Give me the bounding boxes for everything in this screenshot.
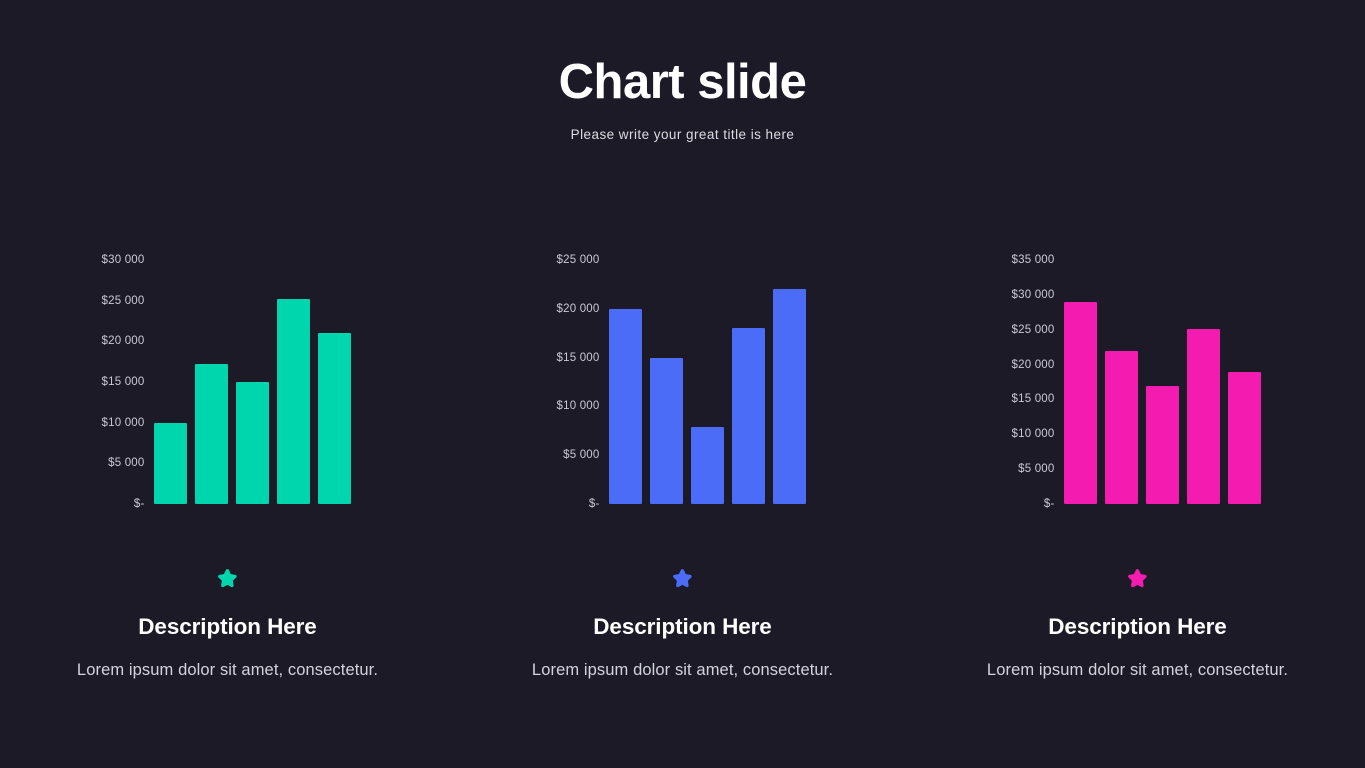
bar[interactable]: [1064, 302, 1097, 504]
page-subtitle: Please write your great title is here: [0, 127, 1365, 142]
description-block-3: Description Here Lorem ipsum dolor sit a…: [973, 614, 1303, 684]
plot-area-1: [154, 248, 351, 504]
bar[interactable]: [609, 309, 642, 504]
y-axis-tick-label: $15 000: [1012, 393, 1055, 405]
bar[interactable]: [1105, 351, 1138, 504]
star-icon-glyph: [671, 568, 694, 590]
bar[interactable]: [650, 358, 683, 504]
y-axis-tick-label: $20 000: [1012, 359, 1055, 371]
y-axis-tick-label: $10 000: [102, 417, 145, 429]
star-icon: [671, 566, 694, 592]
y-axis-tick-label: $5 000: [1018, 463, 1054, 475]
description-title: Description Here: [973, 614, 1303, 640]
bar[interactable]: [1187, 329, 1220, 504]
bar[interactable]: [195, 364, 228, 504]
y-axis-tick-label: $-: [589, 498, 600, 510]
bar-chart-3[interactable]: $-$5 000$10 000$15 000$20 000$25 000$30 …: [993, 248, 1283, 520]
chart-slide: Chart slide Please write your great titl…: [0, 0, 1365, 768]
y-axis-tick-label: $25 000: [557, 254, 600, 266]
bar[interactable]: [1228, 372, 1261, 504]
bar[interactable]: [154, 423, 187, 504]
y-axis-tick-label: $20 000: [557, 303, 600, 315]
description-title: Description Here: [63, 614, 393, 640]
star-icon: [216, 566, 239, 592]
y-axis-tick-label: $25 000: [102, 295, 145, 307]
chart-column-3: $-$5 000$10 000$15 000$20 000$25 000$30 …: [910, 248, 1365, 684]
y-axis-tick-label: $30 000: [102, 254, 145, 266]
bar[interactable]: [691, 427, 724, 504]
y-axis-tick-label: $10 000: [1012, 428, 1055, 440]
y-axis-tick-label: $15 000: [557, 352, 600, 364]
description-block-2: Description Here Lorem ipsum dolor sit a…: [518, 614, 848, 684]
y-axis-tick-label: $15 000: [102, 376, 145, 388]
slide-header: Chart slide Please write your great titl…: [0, 58, 1365, 142]
star-icon: [1126, 566, 1149, 592]
description-title: Description Here: [518, 614, 848, 640]
bar-chart-1[interactable]: $-$5 000$10 000$15 000$20 000$25 000$30 …: [83, 248, 373, 520]
page-title: Chart slide: [0, 58, 1365, 107]
y-axis-tick-label: $-: [1044, 498, 1055, 510]
star-icon-glyph: [216, 568, 239, 590]
y-axis-3: $-$5 000$10 000$15 000$20 000$25 000$30 …: [993, 248, 1055, 520]
bar[interactable]: [318, 333, 351, 504]
description-body: Lorem ipsum dolor sit amet, consectetur.: [973, 656, 1303, 684]
y-axis-1: $-$5 000$10 000$15 000$20 000$25 000$30 …: [83, 248, 145, 520]
chart-column-2: $-$5 000$10 000$15 000$20 000$25 000 Des…: [455, 248, 910, 684]
y-axis-tick-label: $25 000: [1012, 324, 1055, 336]
bar[interactable]: [236, 382, 269, 504]
bar[interactable]: [773, 289, 806, 504]
y-axis-tick-label: $30 000: [1012, 289, 1055, 301]
y-axis-tick-label: $5 000: [563, 449, 599, 461]
bar-chart-2[interactable]: $-$5 000$10 000$15 000$20 000$25 000: [538, 248, 828, 520]
description-block-1: Description Here Lorem ipsum dolor sit a…: [63, 614, 393, 684]
description-body: Lorem ipsum dolor sit amet, consectetur.: [63, 656, 393, 684]
chart-column-1: $-$5 000$10 000$15 000$20 000$25 000$30 …: [0, 248, 455, 684]
y-axis-tick-label: $35 000: [1012, 254, 1055, 266]
y-axis-2: $-$5 000$10 000$15 000$20 000$25 000: [538, 248, 600, 520]
bar[interactable]: [732, 328, 765, 504]
y-axis-tick-label: $10 000: [557, 400, 600, 412]
plot-area-2: [609, 248, 806, 504]
description-body: Lorem ipsum dolor sit amet, consectetur.: [518, 656, 848, 684]
star-icon-glyph: [1126, 568, 1149, 590]
y-axis-tick-label: $5 000: [108, 457, 144, 469]
y-axis-tick-label: $-: [134, 498, 145, 510]
chart-columns: $-$5 000$10 000$15 000$20 000$25 000$30 …: [0, 248, 1365, 684]
y-axis-tick-label: $20 000: [102, 335, 145, 347]
plot-area-3: [1064, 248, 1261, 504]
bar[interactable]: [1146, 386, 1179, 505]
bar[interactable]: [277, 299, 310, 504]
